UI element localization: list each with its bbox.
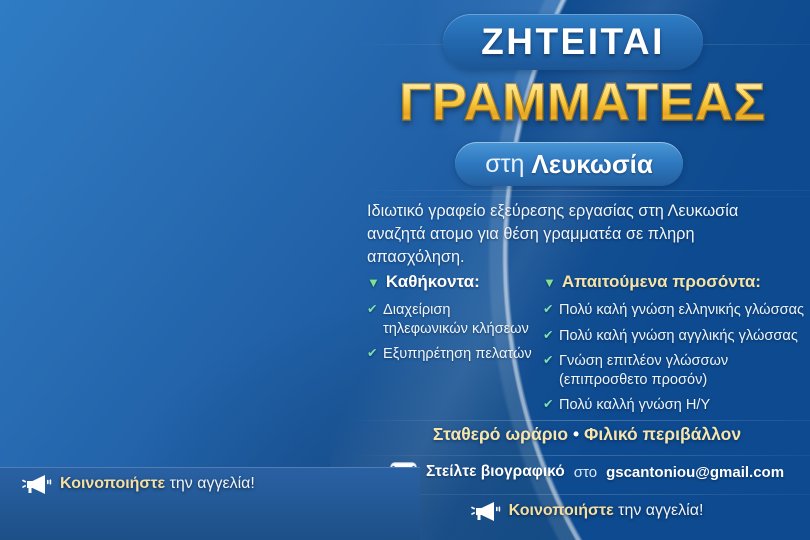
cv-row[interactable]: Στείλτε βιογραφικό στο gscantoniou@gmail…: [367, 462, 807, 482]
perk-hours: Σταθερό ωράριο: [433, 424, 568, 444]
share-text-panel: Κοινοποιήστε την αγγελία!: [509, 502, 704, 520]
qualifications-column: ▼ Απαιτούμενα προσόντα: ✔Πολύ καλή γνώση…: [543, 272, 810, 422]
wanted-pill: ΖΗΤΕΙΤΑΙ: [443, 14, 703, 70]
check-icon: ✔: [543, 302, 553, 318]
panel-content: ΖΗΤΕΙΤΑΙ ΓΡΑΜΜΑΤΕΑΣ στη Λευκωσία Ιδιωτικ…: [355, 0, 810, 540]
duties-heading-label: Καθήκοντα:: [386, 272, 480, 292]
intro-paragraph: Ιδιωτικό γραφείο εξεύρεσης εργασίας στη …: [367, 200, 787, 269]
duties-item-text: Διαχείριση τηλεφωνικών κλήσεων: [383, 302, 529, 337]
qualifications-heading-label: Απαιτούμενα προσόντα:: [562, 272, 761, 292]
check-icon: ✔: [543, 353, 553, 369]
check-icon: ✔: [367, 346, 377, 362]
megaphone-icon: [471, 500, 501, 522]
share-bold-photo: Κοινοποιήστε: [60, 475, 165, 492]
triangle-down-icon: ▼: [543, 276, 556, 289]
location-city: Λευκωσία: [531, 149, 652, 180]
duties-column: ▼ Καθήκοντα: ✔Διαχείριση τηλεφωνικών κλή…: [367, 272, 539, 371]
location-prefix: στη: [485, 150, 524, 179]
duties-heading: ▼ Καθήκοντα:: [367, 272, 539, 292]
perks-line: Σταθερό ωράριο • Φιλικό περιβάλλον: [367, 424, 807, 445]
list-item: ✔Πολύ καλλή γνώση Η/Υ: [543, 396, 810, 415]
list-item: ✔Πολύ καλή γνώση αγγλικής γλώσσας: [543, 327, 810, 346]
share-banner-panel[interactable]: Κοινοποιήστε την αγγελία!: [367, 500, 807, 522]
cv-label: Στείλτε βιογραφικό: [426, 463, 565, 481]
qualification-item-text: Πολύ καλή γνώση αγγλικής γλώσσας: [559, 328, 798, 344]
check-icon: ✔: [543, 328, 553, 344]
location-pill: στη Λευκωσία: [455, 142, 683, 186]
list-item: ✔Διαχείριση τηλεφωνικών κλήσεων: [367, 301, 539, 338]
duties-list: ✔Διαχείριση τηλεφωνικών κλήσεων ✔Εξυπηρέ…: [367, 301, 539, 364]
wanted-label: ΖΗΤΕΙΤΑΙ: [481, 21, 665, 63]
share-bold-panel: Κοινοποιήστε: [509, 502, 614, 519]
check-icon: ✔: [367, 302, 377, 318]
perk-environment: Φιλικό περιβάλλον: [584, 424, 741, 444]
share-rest-photo: την αγγελία!: [170, 475, 255, 492]
qualification-item-text: Γνώση επιτλέον γλώσσων (επιπροσθετο προσ…: [559, 353, 728, 388]
duties-item-text: Εξυπηρέτηση πελατών: [383, 346, 532, 362]
qualification-item-text: Πολύ καλλή γνώση Η/Υ: [559, 397, 710, 413]
qualification-item-text: Πολύ καλή γνώση ελληνικής γλώσσας: [559, 302, 804, 318]
share-banner-photo[interactable]: Κοινοποιήστε την αγγελία!: [22, 473, 255, 495]
triangle-down-icon: ▼: [367, 276, 380, 289]
cv-preposition: στο: [574, 464, 597, 481]
share-rest-panel: την αγγελία!: [618, 502, 703, 519]
list-item: ✔Πολύ καλή γνώση ελληνικής γλώσσας: [543, 301, 810, 320]
job-advertisement-poster: Κοινοποιήστε την αγγελία! ΖΗΤΕΙΤΑΙ ΓΡΑΜΜ…: [0, 0, 810, 540]
qualifications-heading: ▼ Απαιτούμενα προσόντα:: [543, 272, 810, 292]
perks-separator: •: [573, 424, 579, 444]
qualifications-list: ✔Πολύ καλή γνώση ελληνικής γλώσσας ✔Πολύ…: [543, 301, 810, 415]
list-item: ✔Γνώση επιτλέον γλώσσων (επιπροσθετο προ…: [543, 352, 810, 389]
job-title: ΓΡΑΜΜΑΤΕΑΣ: [355, 76, 810, 129]
share-text-photo: Κοινοποιήστε την αγγελία!: [60, 475, 255, 493]
cv-email[interactable]: gscantoniou@gmail.com: [606, 464, 784, 481]
megaphone-icon: [22, 473, 52, 495]
list-item: ✔Εξυπηρέτηση πελατών: [367, 345, 539, 364]
check-icon: ✔: [543, 397, 553, 413]
